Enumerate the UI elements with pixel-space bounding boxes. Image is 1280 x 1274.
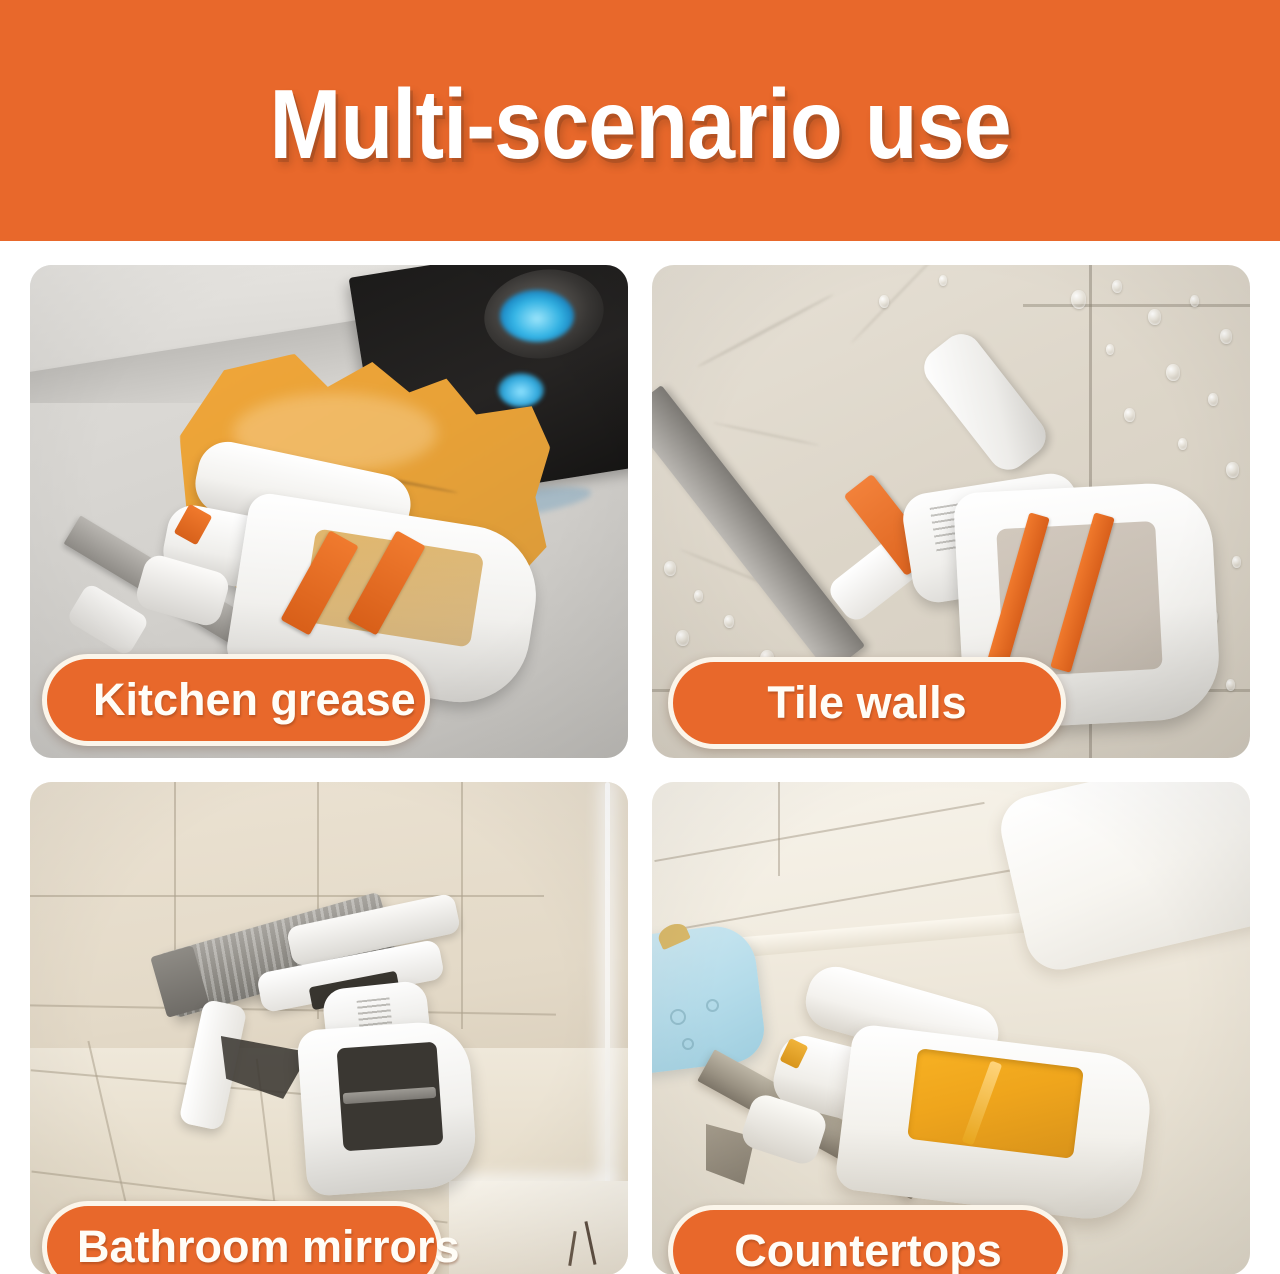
water-droplet [664,561,676,576]
squeegee-barrel [916,326,1053,478]
card-label-text: Countertops [734,1225,1001,1274]
card-label-countertops[interactable]: Countertops [668,1205,1068,1274]
wall-panel-line [778,782,780,876]
squeegee-tool [162,910,533,1196]
squeegee-tool [706,969,1196,1245]
water-droplet [676,630,689,646]
card-label-tile-walls[interactable]: Tile walls [668,657,1066,749]
card-label-text: Kitchen grease [93,674,416,726]
header-banner: Multi-scenario use [0,0,1280,241]
infographic-page: Multi-scenario use [0,0,1280,1274]
scenario-card-kitchen-grease[interactable]: Kitchen grease [30,265,628,758]
card-label-bathroom-mirrors[interactable]: Bathroom mirrors [42,1201,442,1274]
water-droplet [1226,462,1239,478]
squeegee-shadow [221,1036,310,1099]
card-label-kitchen-grease[interactable]: Kitchen grease [42,654,430,746]
card-label-text: Bathroom mirrors [77,1221,460,1273]
water-droplet [1226,679,1235,691]
scenario-card-countertops[interactable]: Countertops [652,782,1250,1274]
mirror-led-frame [605,782,610,1186]
card-label-text: Tile walls [767,677,966,729]
tile-grout-line [30,895,544,897]
scenario-card-grid: Kitchen grease [30,265,1250,1274]
water-droplet [1112,280,1122,293]
water-droplet [1232,556,1241,568]
page-title: Multi-scenario use [269,69,1010,173]
scenario-card-tile-walls[interactable]: Tile walls [652,265,1250,758]
scenario-card-bathroom-mirrors[interactable]: Bathroom mirrors [30,782,628,1274]
water-droplet [694,590,703,602]
flame-icon [500,290,574,342]
pouch-dot-icon [670,1009,686,1025]
water-droplet [939,275,947,286]
